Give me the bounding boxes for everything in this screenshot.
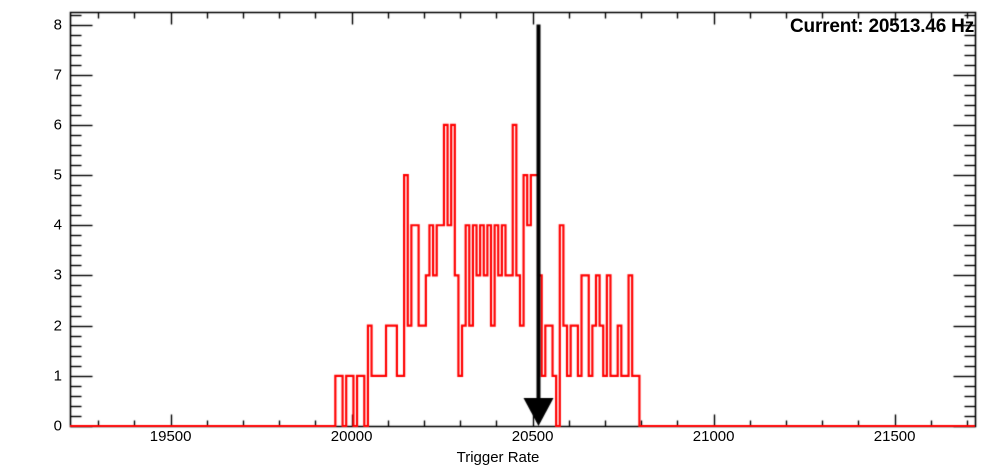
y-tick-label-2: 2 bbox=[40, 317, 62, 334]
y-tick-label-6: 6 bbox=[40, 116, 62, 133]
y-tick-label-1: 1 bbox=[40, 367, 62, 384]
x-tick-label-20000: 20000 bbox=[331, 428, 373, 445]
y-tick-label-4: 4 bbox=[40, 217, 62, 234]
y-tick-label-8: 8 bbox=[40, 16, 62, 33]
trigger-rate-histogram-canvas bbox=[0, 0, 996, 472]
y-tick-label-3: 3 bbox=[40, 267, 62, 284]
x-tick-label-20500: 20500 bbox=[512, 428, 554, 445]
y-tick-label-5: 5 bbox=[40, 167, 62, 184]
x-tick-label-21000: 21000 bbox=[693, 428, 735, 445]
y-tick-label-0: 0 bbox=[40, 418, 62, 435]
y-tick-label-7: 7 bbox=[40, 66, 62, 83]
x-tick-label-19500: 19500 bbox=[150, 428, 192, 445]
current-rate-label: Current: 20513.46 Hz bbox=[790, 16, 974, 38]
x-axis-title: Trigger Rate bbox=[0, 449, 996, 466]
x-tick-label-21500: 21500 bbox=[874, 428, 916, 445]
